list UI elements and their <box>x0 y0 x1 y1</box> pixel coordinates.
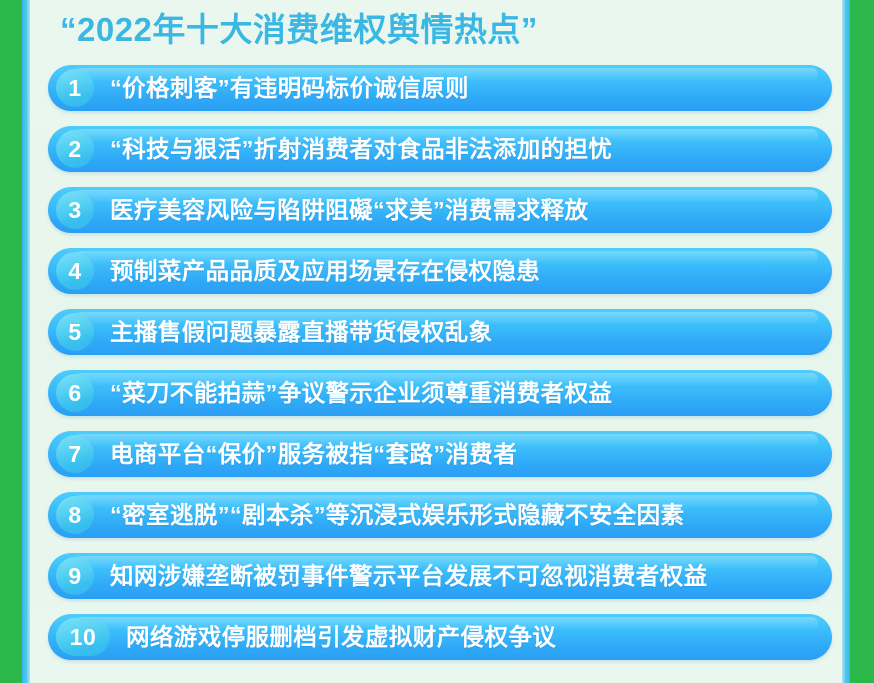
list-item[interactable]: 4预制菜产品品质及应用场景存在侵权隐患 <box>48 248 832 294</box>
list-item[interactable]: 10网络游戏停服删档引发虚拟财产侵权争议 <box>48 614 832 660</box>
rank-badge: 9 <box>56 557 94 595</box>
list-item-label: “菜刀不能拍蒜”争议警示企业须尊重消费者权益 <box>110 370 814 416</box>
rank-badge: 4 <box>56 252 94 290</box>
list-item[interactable]: 9知网涉嫌垄断被罚事件警示平台发展不可忽视消费者权益 <box>48 553 832 599</box>
list-item[interactable]: 7电商平台“保价”服务被指“套路”消费者 <box>48 431 832 477</box>
list-item[interactable]: 3医疗美容风险与陷阱阻礙“求美”消费需求释放 <box>48 187 832 233</box>
rank-badge: 10 <box>56 618 110 656</box>
list-item-label: “科技与狠活”折射消费者对食品非法添加的担忧 <box>110 126 814 172</box>
list-item[interactable]: 6“菜刀不能拍蒜”争议警示企业须尊重消费者权益 <box>48 370 832 416</box>
list-item-label: 主播售假问题暴露直播带货侵权乱象 <box>110 309 814 355</box>
list-item-label: 电商平台“保价”服务被指“套路”消费者 <box>110 431 814 477</box>
list-item-label: “密室逃脱”“剧本杀”等沉浸式娱乐形式隐藏不安全因素 <box>110 492 814 538</box>
poster-canvas: “2022年十大消费维权舆情热点” 1“价格刺客”有违明码标价诚信原则2“科技与… <box>0 0 874 683</box>
list-item[interactable]: 8“密室逃脱”“剧本杀”等沉浸式娱乐形式隐藏不安全因素 <box>48 492 832 538</box>
page-title: “2022年十大消费维权舆情热点” <box>60 8 538 52</box>
rank-badge: 7 <box>56 435 94 473</box>
frame-stripe-green-right <box>850 0 874 683</box>
rank-badge: 3 <box>56 191 94 229</box>
rank-badge: 5 <box>56 313 94 351</box>
list-item-label: 网络游戏停服删档引发虚拟财产侵权争议 <box>126 614 814 660</box>
rank-badge: 2 <box>56 130 94 168</box>
list-item[interactable]: 2“科技与狠活”折射消费者对食品非法添加的担忧 <box>48 126 832 172</box>
frame-stripe-cyan-left <box>22 0 30 683</box>
list-item[interactable]: 1“价格刺客”有违明码标价诚信原则 <box>48 65 832 111</box>
rank-badge: 8 <box>56 496 94 534</box>
list-item-label: 知网涉嫌垄断被罚事件警示平台发展不可忽视消费者权益 <box>110 553 814 599</box>
rank-badge: 6 <box>56 374 94 412</box>
frame-stripe-green-left <box>0 0 22 683</box>
frame-stripe-cyan-right <box>842 0 850 683</box>
list-item-label: 医疗美容风险与陷阱阻礙“求美”消费需求释放 <box>110 187 814 233</box>
poster-content: “2022年十大消费维权舆情热点” 1“价格刺客”有违明码标价诚信原则2“科技与… <box>30 0 842 683</box>
list-item-label: 预制菜产品品质及应用场景存在侵权隐患 <box>110 248 814 294</box>
hotspot-list: 1“价格刺客”有违明码标价诚信原则2“科技与狠活”折射消费者对食品非法添加的担忧… <box>48 65 832 675</box>
list-item[interactable]: 5主播售假问题暴露直播带货侵权乱象 <box>48 309 832 355</box>
rank-badge: 1 <box>56 69 94 107</box>
list-item-label: “价格刺客”有违明码标价诚信原则 <box>110 65 814 111</box>
